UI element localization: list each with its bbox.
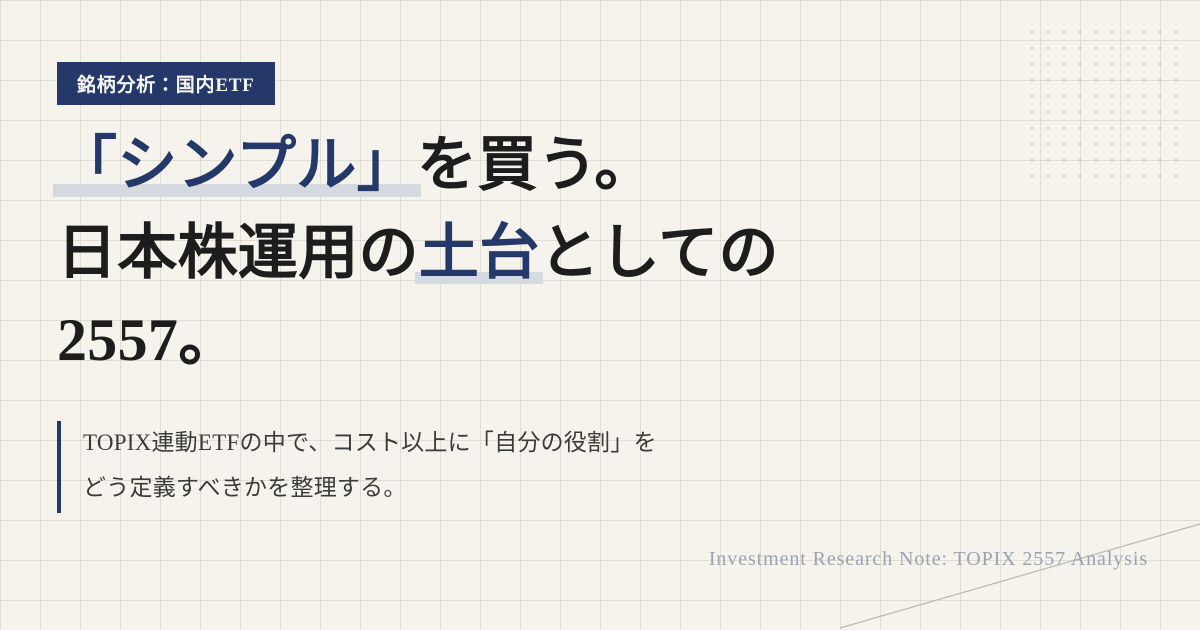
headline-line-1: 「シンプル」を買う。 [57,122,1057,210]
category-badge-label: 銘柄分析：国内ETF [77,70,255,97]
headline-line-3: 2557。 [57,297,1057,385]
subtitle-text: TOPIX連動ETFの中で、コスト以上に「自分の役割」を どう定義すべきかを整理… [61,421,657,513]
headline-line-1-rest: を買う。 [417,132,655,198]
subtitle-block: TOPIX連動ETFの中で、コスト以上に「自分の役割」を どう定義すべきかを整理… [57,421,657,513]
subtitle-line-2: どう定義すべきかを整理する。 [83,466,657,511]
headline-line-2-before: 日本株運用の [57,220,419,286]
page-title: 「シンプル」を買う。 日本株運用の土台としての 2557。 [57,122,1057,385]
subtitle-line-1: TOPIX連動ETFの中で、コスト以上に「自分の役割」を [83,421,657,466]
headline-line-2-after: としての [539,220,778,286]
headline-highlight-foundation: 土台 [419,220,540,286]
slide-canvas: 銘柄分析：国内ETF 「シンプル」を買う。 日本株運用の土台としての 2557。… [0,0,1200,630]
headline-line-2: 日本株運用の土台としての [57,210,1057,298]
category-badge: 銘柄分析：国内ETF [57,62,275,105]
footer-note: Investment Research Note: TOPIX 2557 Ana… [709,548,1148,571]
ascending-trend-line-decoration [840,520,1200,630]
headline-highlight-simple: 「シンプル」 [57,132,417,198]
